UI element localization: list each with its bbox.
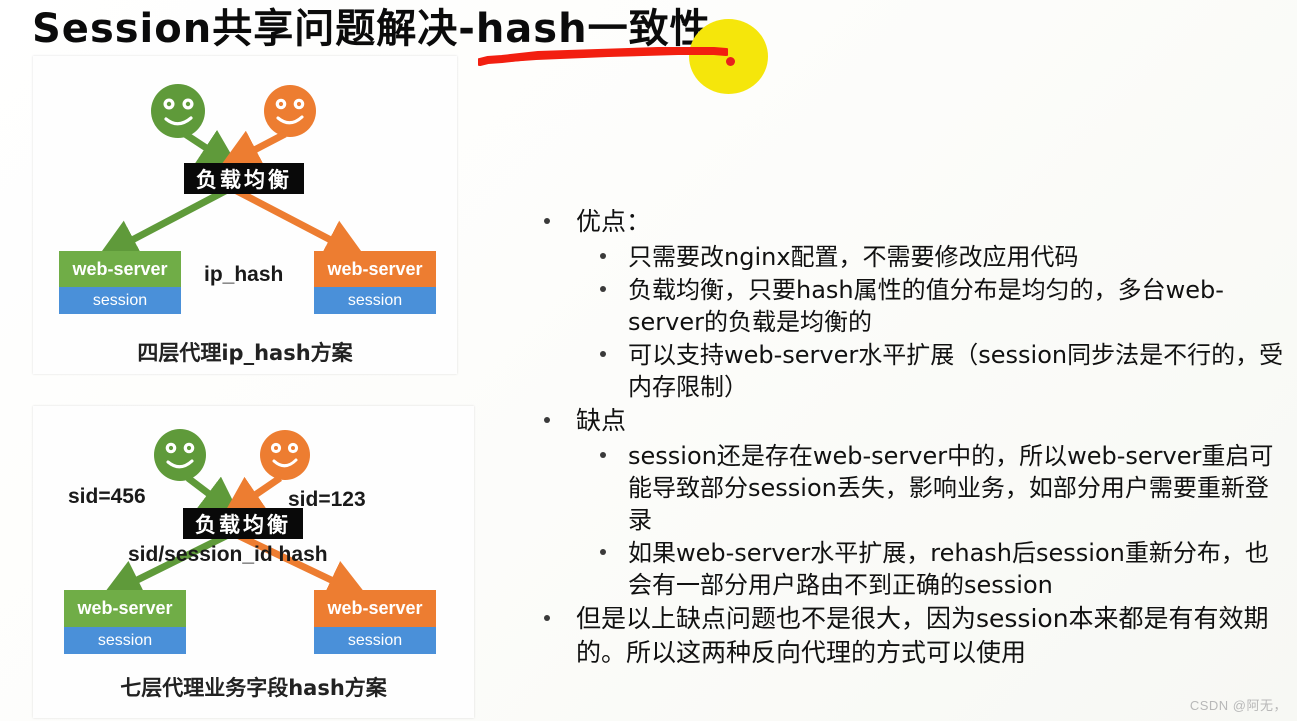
web-server-box-green-bottom: web-server session: [64, 590, 186, 654]
diagram-panel-four-layer: 负载均衡 ip_hash web-server session web-serv…: [33, 56, 457, 374]
bullet-con-1: session还是存在web-server中的，所以web-server重启可能…: [536, 440, 1288, 536]
web-server-box-orange-bottom: web-server session: [314, 590, 436, 654]
client-label-sid-456: sid=456: [68, 485, 146, 509]
load-balancer-box-bottom: 负载均衡: [183, 508, 303, 539]
diagram-panel-seven-layer: sid=456 sid=123 负载均衡 sid/session_id hash…: [33, 406, 474, 718]
client-face-green: [154, 429, 206, 481]
red-underline-annotation: [478, 42, 728, 66]
bullet-pros-heading: 优点：: [536, 205, 1288, 239]
web-server-label: web-server: [314, 590, 436, 627]
csdn-watermark: CSDN @阿无，: [1190, 695, 1287, 714]
bullet-marker: [600, 549, 606, 555]
slide-canvas: Session共享问题解决-hash一致性: [0, 0, 1297, 721]
cursor-dot: [726, 57, 735, 66]
web-server-label: web-server: [59, 251, 181, 287]
session-label: session: [314, 627, 436, 654]
bullet-pro-2: 负载均衡，只要hash属性的值分布是均匀的，多台web-server的负载是均衡…: [536, 274, 1288, 338]
bullet-pro-3: 可以支持web-server水平扩展（session同步法是不行的，受内存限制）: [536, 339, 1288, 403]
diagram-caption-top: 四层代理ip_hash方案: [33, 337, 457, 367]
client-face-orange: [260, 430, 310, 480]
web-server-box-orange-top: web-server session: [314, 251, 436, 314]
session-label: session: [314, 287, 436, 314]
client-face-orange: [264, 85, 316, 137]
client-face-green: [151, 84, 205, 138]
bullet-marker: [600, 253, 606, 259]
session-label: session: [64, 627, 186, 654]
bullet-marker: [600, 351, 606, 357]
edge-label-sid-session-id-hash: sid/session_id hash: [128, 543, 328, 567]
bullet-pro-1: 只需要改nginx配置，不需要修改应用代码: [536, 241, 1288, 273]
load-balancer-box-top: 负载均衡: [184, 163, 304, 194]
bullet-marker: [600, 452, 606, 458]
bullet-content: 优点： 只需要改nginx配置，不需要修改应用代码 负载均衡，只要hash属性的…: [536, 205, 1288, 672]
web-server-box-green-top: web-server session: [59, 251, 181, 314]
diagram-caption-bottom: 七层代理业务字段hash方案: [33, 672, 474, 702]
bullet-con-2: 如果web-server水平扩展，rehash后session重新分布，也会有一…: [536, 537, 1288, 601]
web-server-label: web-server: [314, 251, 436, 287]
edge-label-ip-hash: ip_hash: [204, 263, 283, 287]
bullet-marker: [544, 417, 550, 423]
bullet-marker: [544, 615, 550, 621]
bullet-marker: [600, 286, 606, 292]
bullet-marker: [544, 218, 550, 224]
diagram-four-layer-ip-hash: 负载均衡 ip_hash web-server session web-serv…: [33, 56, 457, 374]
diagram-arrows-top: [33, 56, 457, 374]
load-balancer-label: 负载均衡: [195, 509, 291, 539]
web-server-label: web-server: [64, 590, 186, 627]
diagram-seven-layer-field-hash: sid=456 sid=123 负载均衡 sid/session_id hash…: [33, 406, 474, 718]
load-balancer-label: 负载均衡: [196, 164, 292, 194]
session-label: session: [59, 287, 181, 314]
bullet-cons-heading: 缺点: [536, 404, 1288, 438]
bullet-conclusion: 但是以上缺点问题也不是很大，因为session本来都是有有效期的。所以这两种反向…: [536, 602, 1288, 670]
